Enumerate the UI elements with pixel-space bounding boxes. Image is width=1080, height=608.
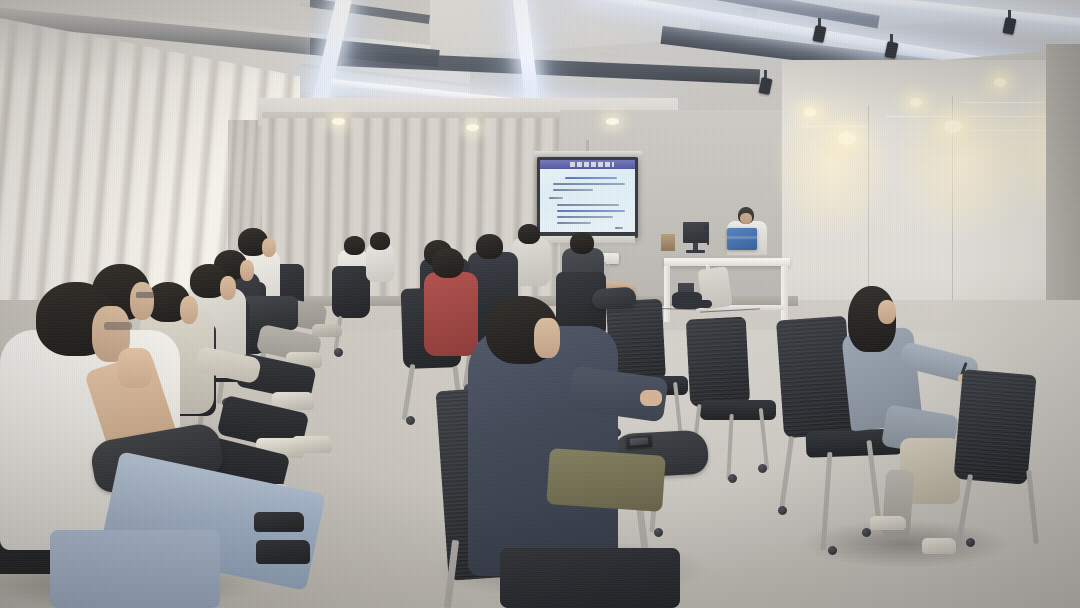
slide-text-line: [553, 183, 625, 185]
slide-text-line: [557, 204, 619, 206]
eyeglasses-icon: [136, 292, 154, 298]
slide-text-line: [557, 210, 625, 212]
chair-caster: [778, 506, 787, 515]
floor-bag: [672, 292, 702, 309]
desk-box: [661, 234, 675, 251]
chair-caster: [728, 474, 737, 483]
presenter-blue-bag-strap: [727, 236, 757, 239]
audience-person-head: [518, 224, 540, 244]
recessed-downlight-icon: [606, 118, 619, 125]
desk-leg: [664, 266, 670, 322]
slide-title-text: [570, 162, 614, 167]
slide-title-bar: [540, 160, 635, 169]
audience-person-face: [878, 300, 896, 324]
track-spotlight-icon: [758, 77, 772, 95]
projection-screen: [540, 160, 635, 232]
audience-person-shoe: [292, 436, 332, 453]
audience-person-head: [432, 248, 464, 278]
chair-seat: [700, 400, 776, 420]
chair-caster: [828, 546, 837, 555]
presenter-blue-bag: [727, 228, 757, 250]
chair-back: [686, 316, 751, 407]
slide-body: [545, 173, 631, 229]
slide-text-line: [615, 227, 623, 229]
audience-person-shoe: [254, 512, 304, 532]
slide-text-line: [565, 177, 617, 179]
chair-back: [776, 316, 854, 439]
chair-caster: [966, 538, 975, 547]
slide-text-line: [553, 189, 593, 191]
presenter-desk-top: [664, 258, 790, 266]
chair-caster: [654, 528, 663, 537]
recessed-downlight-icon: [466, 124, 479, 131]
photo-scene: Classroom seminar — audience watching a …: [0, 0, 1080, 608]
audience-person-head: [344, 236, 365, 255]
audience-person-face: [130, 282, 154, 320]
audience-person-face: [262, 238, 276, 257]
audience-person-face: [180, 296, 198, 324]
audience-person-face: [220, 276, 236, 300]
presenter-face: [740, 213, 752, 224]
audience-person-shoe: [922, 538, 956, 554]
slide-text-line: [557, 222, 591, 224]
audience-person-shoe: [870, 516, 906, 530]
audience-person-hand: [118, 348, 152, 388]
audience-person-face: [534, 318, 560, 358]
audience-person-torso: [424, 272, 478, 356]
curtain-left-shading: [0, 0, 310, 80]
chair-caster: [406, 416, 415, 425]
audience-person-leg: [546, 448, 666, 512]
audience-person-face: [240, 260, 254, 281]
audience-person-head: [476, 234, 503, 259]
monitor-base: [686, 250, 705, 253]
wall-washer-light-icon: [944, 120, 962, 133]
slide-text-line: [557, 216, 613, 218]
ceiling-beam: [300, 0, 430, 24]
audience-person-head: [570, 232, 594, 254]
chair-back: [953, 369, 1036, 485]
wall-washer-light-icon: [804, 108, 816, 117]
audience-person-head: [370, 232, 390, 250]
chair-caster: [334, 348, 343, 357]
recessed-downlight-icon: [332, 118, 345, 125]
eyeglasses-icon: [104, 322, 132, 330]
audience-person-hand: [640, 390, 662, 406]
slide-text-line: [549, 197, 563, 199]
wall-washer-light-icon: [994, 78, 1006, 87]
audience-person-shoe: [256, 540, 310, 564]
chair-caster: [862, 528, 871, 537]
corner-pillar: [1046, 44, 1080, 344]
audience-person-leg: [50, 530, 220, 608]
wall-washer-light-icon: [838, 132, 856, 145]
chair-caster: [758, 464, 767, 473]
track-spotlight-icon: [1002, 17, 1016, 35]
wall-washer-light-icon: [910, 98, 922, 107]
chair-back: [332, 266, 370, 318]
tablet-arm-desk: [591, 286, 636, 309]
spotlight-wall-pool: [772, 90, 892, 240]
audience-person-leg: [500, 548, 680, 608]
